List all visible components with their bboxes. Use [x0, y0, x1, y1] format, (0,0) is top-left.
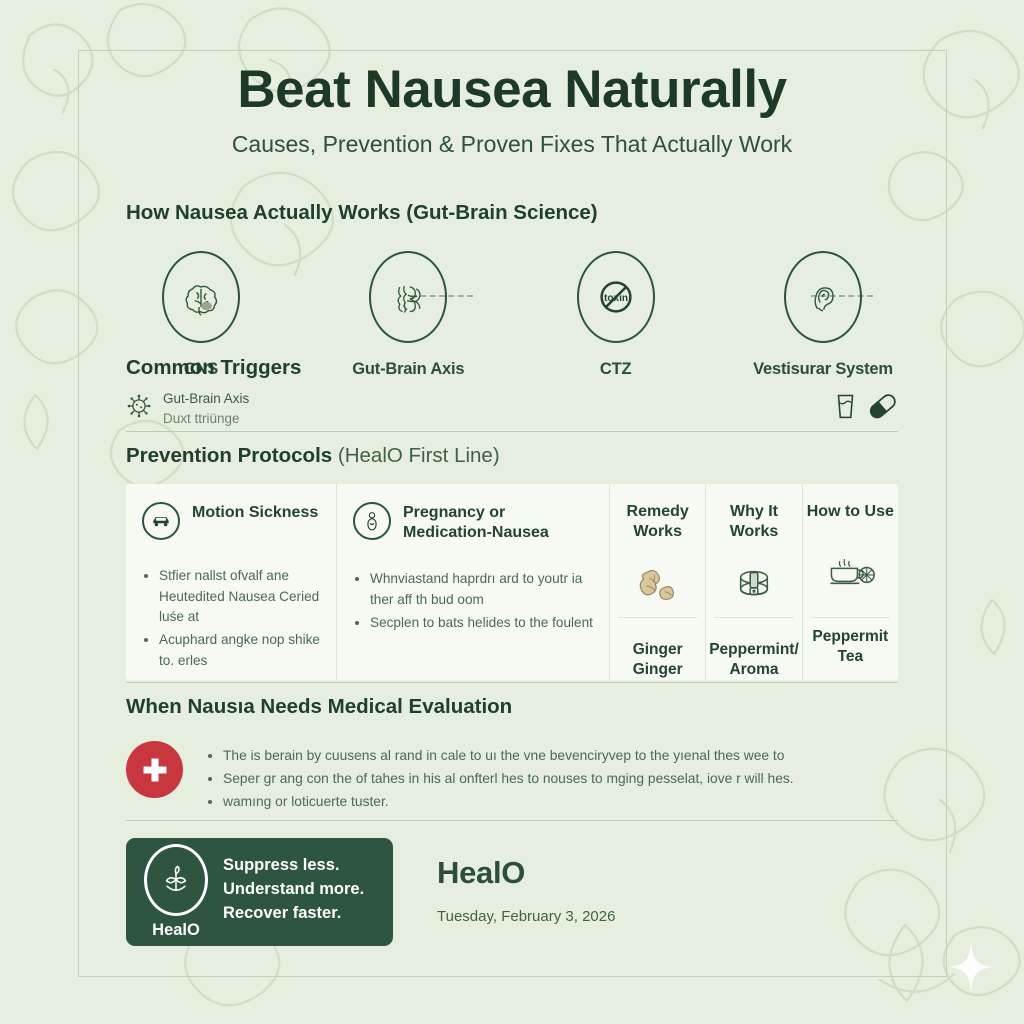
remedy-column-why-it-works: Why It Works Peppermint/ Aroma	[705, 484, 801, 680]
section-heading-prevention: Prevention Protocols (HealO First Line)	[126, 444, 898, 468]
page-subtitle: Causes, Prevention & Proven Fixes That A…	[0, 131, 1024, 158]
sprout-plant-icon	[144, 844, 208, 916]
trigger-line-primary: Gut-Brain Axis	[163, 389, 249, 409]
car-icon	[142, 502, 180, 540]
prevention-card-title: Motion Sickness	[192, 502, 318, 523]
section-heading-prevention-main: Prevention Protocols	[126, 444, 332, 467]
water-glass-icon	[834, 392, 857, 425]
poster-footer: HealO Suppress less. Understand more. Re…	[126, 838, 898, 946]
section-common-triggers: Common Triggers	[126, 356, 898, 428]
ear-icon	[784, 251, 862, 343]
section-gut-brain-science: How Nausea Actually Works (Gut-Brain Sci…	[126, 201, 898, 379]
list-item: Acuphard angke nop shike to. erles	[159, 630, 320, 671]
list-item: wamıng or loticuerte tuster.	[223, 790, 794, 813]
poster-header: Beat Nausea Naturally Causes, Prevention…	[0, 0, 1024, 158]
section-heading-science: How Nausea Actually Works (Gut-Brain Sci…	[126, 201, 898, 225]
divider-after-triggers	[126, 431, 898, 432]
toxin-label: toxin	[604, 293, 628, 304]
section-heading-prevention-suffix: (HealO First Line)	[338, 444, 500, 467]
table-column-header: Why It Works	[706, 502, 801, 543]
capsule-pill-icon	[867, 392, 898, 425]
divider-after-prevention	[126, 682, 898, 683]
medical-cross-icon	[126, 741, 183, 798]
table-column-header: Remedy Works	[610, 502, 705, 543]
brand-badge: HealO Suppress less. Understand more. Re…	[126, 838, 393, 946]
list-item: Stfier nallst ofvalf ane Heutedited Naus…	[159, 566, 320, 628]
table-cell-value: Ginger Ginger	[610, 640, 705, 680]
table-row-divider	[811, 617, 890, 618]
prevention-card-title: Pregnancy or Medication-Nausea	[403, 502, 593, 543]
pregnancy-icon	[353, 502, 391, 540]
table-cell-value: Peppermit Tea	[803, 627, 898, 667]
remedy-column-how-to-use: How to Use Peppermit Tea	[802, 484, 898, 680]
tagline-line-1: Suppress less.	[223, 854, 364, 878]
brand-tagline: Suppress less. Understand more. Recover …	[223, 854, 364, 929]
medical-warning-bullets: The is berain by cuusens al rand in cale…	[205, 744, 794, 814]
section-heading-medical: When Nausıa Needs Medical Evaluation	[126, 695, 898, 719]
table-row-divider	[618, 617, 697, 618]
table-column-header: How to Use	[807, 502, 894, 522]
prevention-card-group: Motion Sickness Stfier nallst ofvalf ane…	[126, 484, 898, 680]
virus-icon	[126, 393, 152, 424]
remedy-column-remedy-works: Remedy Works	[610, 484, 705, 680]
section-heading-triggers: Common Triggers	[126, 356, 898, 380]
brand-badge-name: HealO	[152, 921, 200, 940]
prevention-card-bullets: Whnviastand haprdrı ard to youtr ia ther…	[353, 569, 593, 633]
trigger-line-secondary: Duxt ttriünge	[163, 409, 249, 429]
remedy-table: Remedy Works	[609, 484, 898, 680]
list-item: The is berain by cuusens al rand in cale…	[223, 744, 794, 767]
intestines-icon	[369, 251, 447, 343]
ginger-root-icon	[635, 557, 681, 611]
tea-cup-icon	[824, 536, 876, 598]
tagline-line-3: Recover faster.	[223, 902, 364, 926]
footer-date: Tuesday, February 3, 2026	[437, 908, 615, 925]
prevention-card-pregnancy-medication: Pregnancy or Medication-Nausea Whnviasta…	[336, 484, 609, 680]
section-prevention-protocols: Prevention Protocols (HealO First Line) …	[126, 444, 898, 680]
table-cell-value: Peppermint/ Aroma	[706, 640, 801, 680]
table-row-divider	[714, 617, 793, 618]
prevention-card-bullets: Stfier nallst ofvalf ane Heutedited Naus…	[142, 566, 320, 671]
list-item: Seper gr ang con the of tahes in his al …	[223, 767, 794, 790]
page-title: Beat Nausea Naturally	[0, 62, 1024, 118]
list-item: Secplen to bats helides to the foulent	[370, 613, 593, 634]
footer-brand-name: HealO	[437, 855, 615, 891]
wristband-icon	[732, 557, 776, 611]
prevention-card-motion-sickness: Motion Sickness Stfier nallst ofvalf ane…	[126, 484, 336, 680]
tagline-line-2: Understand more.	[223, 878, 364, 902]
section-medical-evaluation: When Nausıa Needs Medical Evaluation The…	[126, 695, 898, 814]
no-toxin-icon: toxin	[577, 251, 655, 343]
brain-icon	[162, 251, 240, 343]
divider-before-footer	[126, 820, 898, 821]
list-item: Whnviastand haprdrı ard to youtr ia ther…	[370, 569, 593, 610]
